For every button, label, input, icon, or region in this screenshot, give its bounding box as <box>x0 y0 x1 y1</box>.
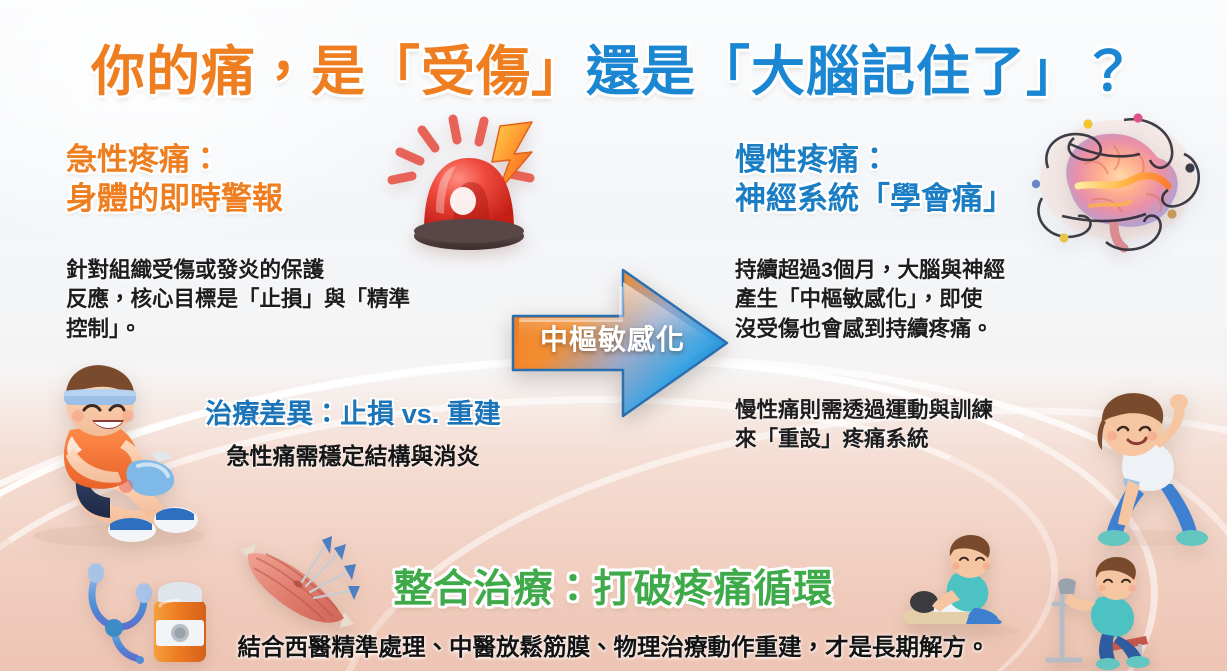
page-title-blue: 還是「大腦記住了」？ <box>586 42 1136 102</box>
page-title: 你的痛，是「受傷」還是「大腦記住了」？ <box>0 27 1227 106</box>
treatment-difference-subtitle: 急性痛需穩定結構與消炎 <box>153 437 553 471</box>
arrow-label: 中樞敏感化 <box>505 318 720 358</box>
page-title-orange: 你的痛，是「受傷」 <box>91 42 586 102</box>
stretching-boy-icon <box>1078 386 1227 546</box>
alarm-siren-icon <box>380 108 560 263</box>
infographic-poster: 你的痛，是「受傷」還是「大腦記住了」？ <box>0 0 1227 671</box>
acute-pain-heading: 急性疼痛： 身體的即時警報 <box>66 140 283 218</box>
pill-bottle-icon <box>140 578 220 670</box>
muscle-needles-icon <box>222 528 372 640</box>
chronic-pain-heading: 慢性疼痛： 神經系統「學會痛」 <box>735 140 1014 218</box>
acute-pain-body: 針對組織受傷或發炎的保護 反應，核心目標是「止損」與「精準 控制」。 <box>66 256 506 344</box>
gym-training-icon <box>1040 548 1170 671</box>
therapist-icon <box>900 528 1030 638</box>
chronic-treatment-note: 慢性痛則需透過運動與訓練 來「重設」疼痛系統 <box>735 396 1135 455</box>
brain-network-icon <box>1018 102 1218 262</box>
chronic-pain-body: 持續超過3個月，大腦與神經 產生「中樞敏感化」，即使 沒受傷也會感到持續疼痛。 <box>735 256 1135 344</box>
treatment-difference-title: 治療差異：止損 vs. 重建 <box>153 392 553 431</box>
